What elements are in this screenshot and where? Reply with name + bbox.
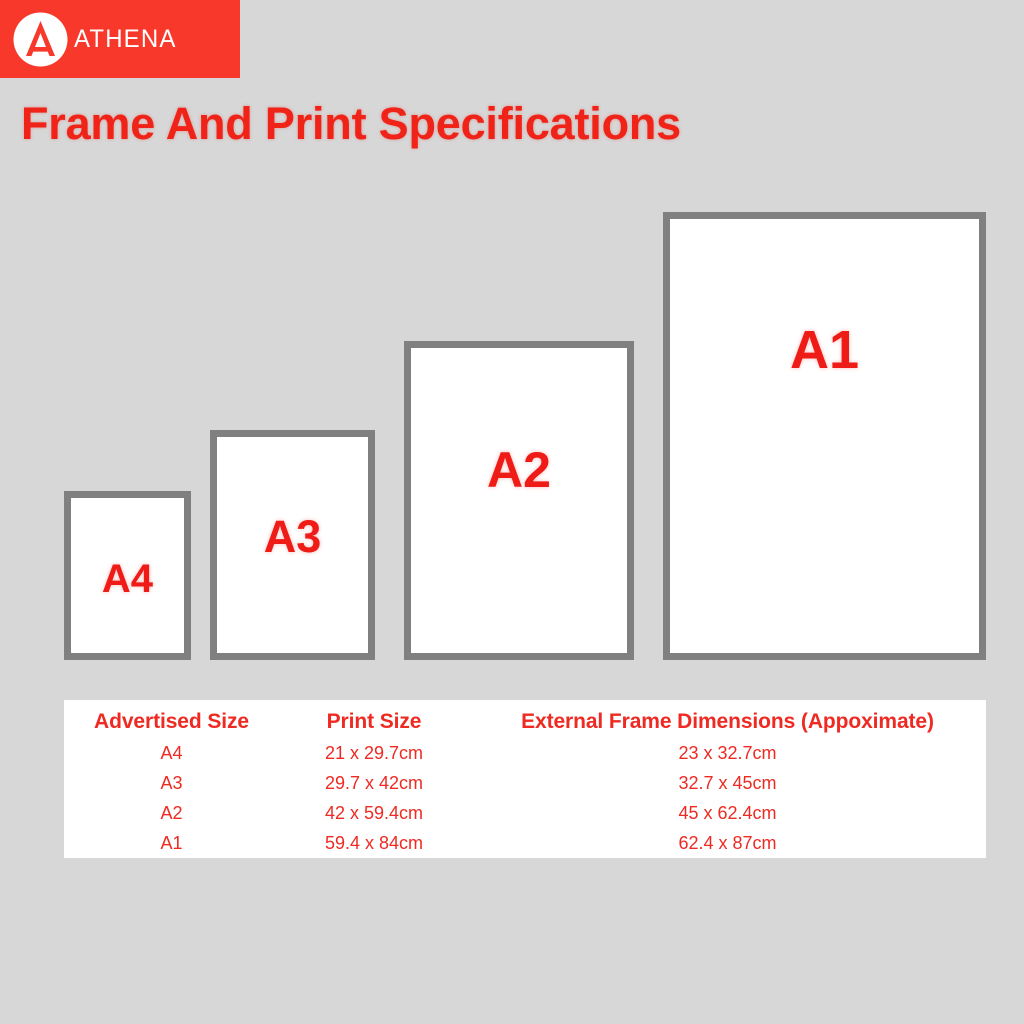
athena-a-circle-icon bbox=[12, 11, 69, 68]
cell-external-dimensions: 45 x 62.4cm bbox=[469, 798, 986, 828]
cell-advertised-size: A4 bbox=[64, 738, 279, 768]
column-header-print-size: Print Size bbox=[279, 706, 469, 738]
table-row: A3 29.7 x 42cm 32.7 x 45cm bbox=[64, 768, 986, 798]
cell-external-dimensions: 32.7 x 45cm bbox=[469, 768, 986, 798]
table-header-row: Advertised Size Print Size External Fram… bbox=[64, 706, 986, 738]
brand-header-bar: ATHENA bbox=[0, 0, 240, 78]
brand-name: ATHENA bbox=[74, 27, 176, 52]
cell-external-dimensions: 23 x 32.7cm bbox=[469, 738, 986, 768]
frame-a1: A1 bbox=[663, 212, 986, 660]
cell-external-dimensions: 62.4 x 87cm bbox=[469, 828, 986, 858]
column-header-external-frame-dimensions: External Frame Dimensions (Appoximate) bbox=[469, 706, 986, 738]
table-row: A4 21 x 29.7cm 23 x 32.7cm bbox=[64, 738, 986, 768]
frame-a3-label: A3 bbox=[264, 514, 322, 653]
column-header-advertised-size: Advertised Size bbox=[64, 706, 279, 738]
cell-advertised-size: A3 bbox=[64, 768, 279, 798]
frame-a3: A3 bbox=[210, 430, 375, 660]
cell-print-size: 21 x 29.7cm bbox=[279, 738, 469, 768]
specifications-table: Advertised Size Print Size External Fram… bbox=[64, 700, 986, 858]
cell-print-size: 29.7 x 42cm bbox=[279, 768, 469, 798]
cell-advertised-size: A1 bbox=[64, 828, 279, 858]
frame-a2: A2 bbox=[404, 341, 634, 660]
page-title: Frame And Print Specifications bbox=[21, 100, 681, 147]
table-row: A1 59.4 x 84cm 62.4 x 87cm bbox=[64, 828, 986, 858]
frame-a1-label: A1 bbox=[790, 323, 859, 653]
table-row: A2 42 x 59.4cm 45 x 62.4cm bbox=[64, 798, 986, 828]
cell-print-size: 59.4 x 84cm bbox=[279, 828, 469, 858]
cell-advertised-size: A2 bbox=[64, 798, 279, 828]
cell-print-size: 42 x 59.4cm bbox=[279, 798, 469, 828]
frame-a2-label: A2 bbox=[487, 445, 551, 653]
frame-a4-label: A4 bbox=[102, 559, 153, 653]
frame-a4: A4 bbox=[64, 491, 191, 660]
